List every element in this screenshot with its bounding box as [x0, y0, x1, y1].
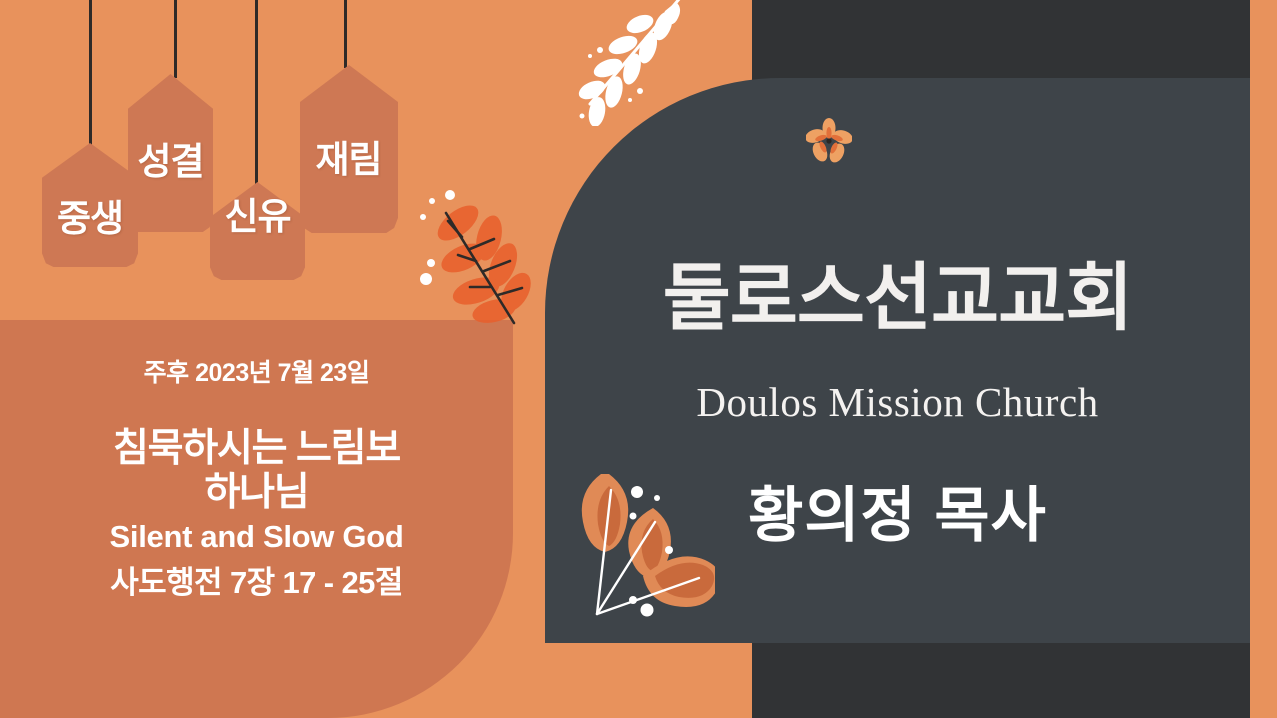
sermon-info-block: 주후 2023년 7월 23일 침묵하시는 느림보 하나님 Silent and…: [0, 320, 513, 718]
scripture-reference: 사도행전 7장 17 - 25절: [110, 557, 403, 602]
slide-canvas: 중생 성결 신유 재림: [0, 0, 1277, 718]
right-dark-panel: [545, 78, 1250, 643]
tag-string-4: [344, 0, 347, 68]
tag-label-4: 재림: [296, 129, 401, 183]
tag-string-2: [174, 0, 177, 78]
tag-label-2: 성결: [118, 131, 223, 185]
tag-label-3: 신유: [205, 186, 310, 240]
pastor-name: 황의정 목사: [545, 486, 1250, 546]
sermon-title-korean-line1: 침묵하시는 느림보: [113, 427, 400, 471]
church-name-korean: 둘로스선교교회: [545, 262, 1250, 336]
tag-string-3: [255, 0, 258, 190]
sermon-title-english: Silent and Slow God: [110, 519, 404, 555]
church-name-english: Doulos Mission Church: [545, 382, 1250, 423]
tag-label-1: 중생: [42, 188, 138, 242]
service-date: 주후 2023년 7월 23일: [144, 353, 370, 389]
sermon-title-korean-line2: 하나님: [113, 471, 400, 515]
sermon-title-korean: 침묵하시는 느림보 하나님: [113, 427, 400, 515]
hanging-tags-group: 중생 성결 신유 재림: [0, 0, 545, 320]
tag-string-1: [89, 0, 92, 150]
